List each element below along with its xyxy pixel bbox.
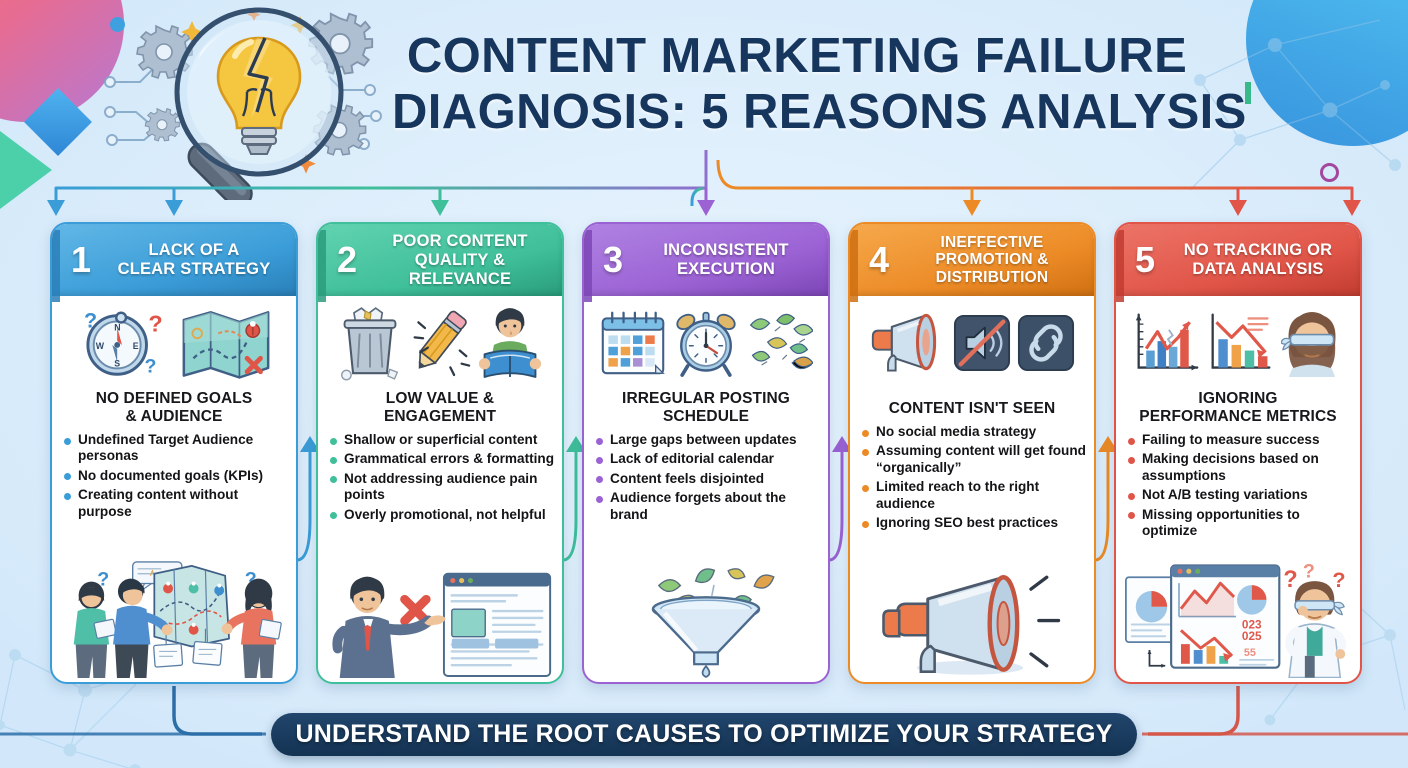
card-5-title: NO TRACKING OR DATA ANALYSIS — [1166, 241, 1350, 279]
reason-card-1[interactable]: 1 LACK OF A CLEAR STRATEGY ? ? ? N S W E — [50, 222, 298, 684]
card-4-number: 4 — [858, 224, 900, 296]
folded-map-icon — [180, 304, 272, 382]
card-2-title: POOR CONTENT QUALITY & RELEVANCE — [368, 232, 552, 289]
funnel-leaves-scene — [584, 526, 828, 682]
list-item: Lack of editorial calendar — [596, 451, 820, 467]
list-item: Undefined Target Audience personas — [64, 432, 288, 465]
card-2-subheading: LOW VALUE & ENGAGEMENT — [318, 386, 562, 432]
card-2-icon-row — [318, 300, 562, 386]
falling-leaves-icon — [745, 309, 813, 377]
list-item: Assuming content will get found “organic… — [862, 443, 1086, 476]
reason-card-4[interactable]: 4 INEFFECTIVE PROMOTION & DISTRIBUTION — [848, 222, 1096, 684]
analytics-dashboard-blindfolded-scene: 023 025 55 ? ? ? — [1116, 542, 1360, 682]
list-item: Shallow or superficial content — [330, 432, 554, 448]
card-1-header: 1 LACK OF A CLEAR STRATEGY — [52, 224, 296, 296]
card-1-number: 1 — [60, 224, 102, 296]
svg-text:?: ? — [1283, 568, 1297, 594]
svg-text:S: S — [114, 358, 120, 368]
card-5-subheading: IGNORING PERFORMANCE METRICS — [1116, 386, 1360, 432]
list-item: Audience forgets about the brand — [596, 490, 820, 523]
pencil-icon — [409, 305, 471, 381]
list-item: Overly promotional, not helpful — [330, 507, 554, 523]
falling-bar-chart-icon — [1207, 310, 1275, 376]
svg-text:?: ? — [145, 355, 157, 377]
megaphone-scene — [850, 534, 1094, 682]
card-4-icon-row — [850, 300, 1094, 386]
card-5-title-line-2: DATA ANALYSIS — [1166, 260, 1350, 279]
card-4-title: INEFFECTIVE PROMOTION & DISTRIBUTION — [900, 234, 1084, 287]
person-reading-book-icon — [477, 305, 543, 381]
card-2-title-line-2: QUALITY & RELEVANCE — [368, 251, 552, 289]
card-3-title-line-2: EXECUTION — [634, 260, 818, 279]
card-4-header: 4 INEFFECTIVE PROMOTION & DISTRIBUTION — [850, 224, 1094, 296]
list-item: No documented goals (KPIs) — [64, 468, 288, 484]
card-5-bullets: Failing to measure success Making decisi… — [1116, 432, 1360, 542]
reason-card-3[interactable]: 3 INCONSISTENT EXECUTION — [582, 222, 830, 684]
alarm-clock-icon — [673, 307, 739, 379]
card-1-title-line-2: CLEAR STRATEGY — [102, 260, 286, 279]
list-item: Limited reach to the right audience — [862, 479, 1086, 512]
card-4-title-line-1: INEFFECTIVE — [900, 234, 1084, 252]
infographic-canvas: CONTENT MARKETING FAILURE DIAGNOSIS: 5 R… — [0, 0, 1408, 768]
card-2-title-line-1: POOR CONTENT — [368, 232, 552, 251]
list-item: Large gaps between updates — [596, 432, 820, 448]
list-item: Creating content without purpose — [64, 487, 288, 520]
card-4-title-line-3: DISTRIBUTION — [900, 269, 1084, 287]
svg-text:?: ? — [148, 310, 162, 336]
list-item: Failing to measure success — [1128, 432, 1352, 448]
blindfolded-person-icon — [1281, 309, 1343, 377]
list-item: No social media strategy — [862, 424, 1086, 440]
scene-number-2: 025 — [1242, 630, 1262, 644]
card-2-bullets: Shallow or superficial content Grammatic… — [318, 432, 562, 526]
scene-number-3: 55 — [1244, 647, 1256, 659]
team-discussing-map-scene: ? ? — [52, 523, 296, 682]
card-1-title-line-1: LACK OF A — [102, 241, 286, 260]
card-4-subheading: CONTENT ISN'T SEEN — [850, 386, 1094, 424]
reason-card-2[interactable]: 2 POOR CONTENT QUALITY & RELEVANCE — [316, 222, 564, 684]
svg-text:?: ? — [1303, 561, 1315, 583]
card-5-title-line-1: NO TRACKING OR — [1166, 241, 1350, 260]
card-1-bullets: Undefined Target Audience personas No do… — [52, 432, 296, 523]
card-3-header: 3 INCONSISTENT EXECUTION — [584, 224, 828, 296]
list-item: Content feels disjointed — [596, 471, 820, 487]
card-5-icon-row — [1116, 300, 1360, 386]
list-item: Grammatical errors & formatting — [330, 451, 554, 467]
card-3-title-line-1: INCONSISTENT — [634, 241, 818, 260]
megaphone-icon — [869, 313, 947, 373]
list-item: Missing opportunities to optimize — [1128, 507, 1352, 540]
list-item: Making decisions based on assumptions — [1128, 451, 1352, 484]
card-4-bullets: No social media strategy Assuming conten… — [850, 424, 1094, 534]
list-item: Not addressing audience pain points — [330, 471, 554, 504]
card-1-subheading: NO DEFINED GOALS & AUDIENCE — [52, 386, 296, 432]
list-item: Ignoring SEO best practices — [862, 515, 1086, 531]
card-5-header: 5 NO TRACKING OR DATA ANALYSIS — [1116, 224, 1360, 296]
calendar-icon — [599, 308, 667, 378]
card-3-icon-row — [584, 300, 828, 386]
card-3-title: INCONSISTENT EXECUTION — [634, 241, 818, 279]
man-rejecting-webpage-scene — [318, 526, 562, 682]
svg-text:E: E — [133, 341, 139, 351]
compass-icon: ? ? ? N S W E — [76, 302, 174, 384]
list-item: Not A/B testing variations — [1128, 487, 1352, 503]
reason-card-5[interactable]: 5 NO TRACKING OR DATA ANALYSIS — [1114, 222, 1362, 684]
svg-text:W: W — [96, 341, 105, 351]
muted-speaker-icon — [953, 314, 1011, 372]
card-3-subheading: IRREGULAR POSTING SCHEDULE — [584, 386, 828, 432]
svg-text:?: ? — [1332, 568, 1345, 593]
rising-bar-chart-icon — [1133, 310, 1201, 376]
card-2-header: 2 POOR CONTENT QUALITY & RELEVANCE — [318, 224, 562, 296]
card-3-number: 3 — [592, 224, 634, 296]
broken-link-icon — [1017, 314, 1075, 372]
bottom-banner: UNDERSTAND THE ROOT CAUSES TO OPTIMIZE Y… — [271, 713, 1137, 756]
card-1-title: LACK OF A CLEAR STRATEGY — [102, 241, 286, 279]
card-4-title-line-2: PROMOTION & — [900, 251, 1084, 269]
card-1-icon-row: ? ? ? N S W E — [52, 300, 296, 386]
trash-bin-icon — [337, 305, 403, 381]
card-3-bullets: Large gaps between updates Lack of edito… — [584, 432, 828, 526]
card-2-number: 2 — [326, 224, 368, 296]
bottom-banner-text: UNDERSTAND THE ROOT CAUSES TO OPTIMIZE Y… — [296, 720, 1113, 749]
card-5-number: 5 — [1124, 224, 1166, 296]
